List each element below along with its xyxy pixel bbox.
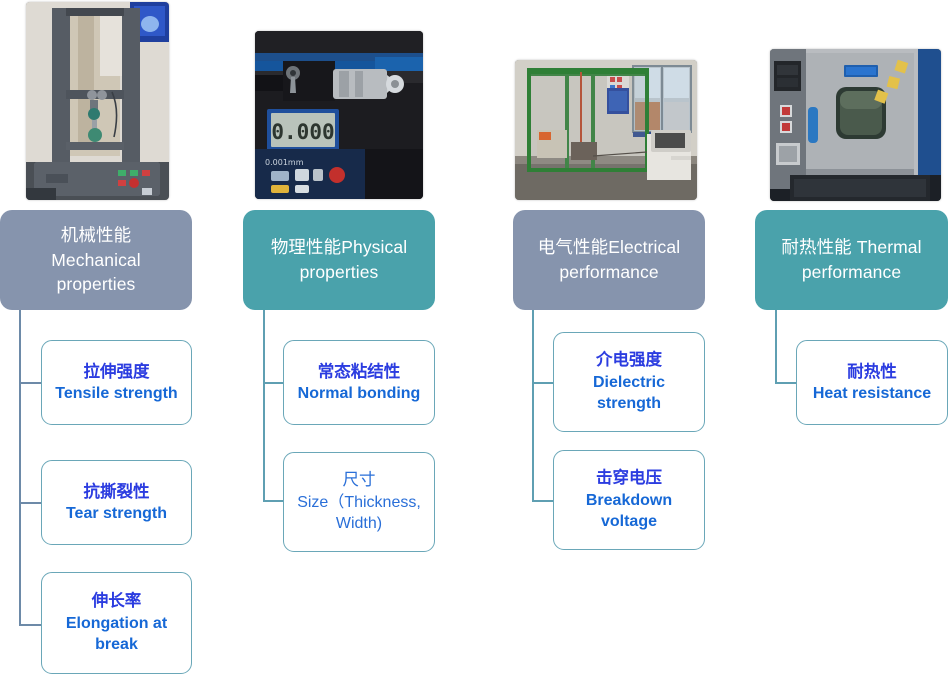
header-mechanical-cn: 机械性能 [61,225,131,245]
child-breakdown-cn: 击穿电压 [586,467,672,489]
child-normal-bonding-en: Normal bonding [298,383,421,405]
header-box-mechanical[interactable]: 机械性能 Mechanical properties [0,210,192,310]
child-tear-cn: 抗撕裂性 [66,481,167,503]
header-thermal-en-line1: performance [802,262,901,282]
child-breakdown-en-line2: voltage [586,511,672,533]
child-size-cn: 尺寸 [297,469,421,491]
connector-branch-physical-1 [263,382,283,384]
child-dielectric-en-line2: strength [593,393,665,415]
header-thermal-cn: 耐热性能 Thermal [781,237,921,257]
child-tensile-cn: 拉伸强度 [55,361,177,383]
high-voltage-test-cage-photo [515,60,697,200]
child-box-tear-strength[interactable]: 抗撕裂性 Tear strength [41,460,192,545]
connector-vertical-electrical [532,310,534,502]
header-box-electrical[interactable]: 电气性能Electrical performance [513,210,705,310]
child-box-elongation-at-break[interactable]: 伸长率 Elongation at break [41,572,192,674]
connector-branch-electrical-1 [532,382,553,384]
child-box-breakdown-voltage[interactable]: 击穿电压 Breakdown voltage [553,450,705,550]
child-tensile-en: Tensile strength [55,383,177,405]
connector-branch-mechanical-3 [19,624,41,626]
child-elongation-en-line1: Elongation at [66,613,167,635]
child-elongation-cn: 伸长率 [66,590,167,612]
child-box-dielectric-strength[interactable]: 介电强度 Dielectric strength [553,332,705,432]
header-electrical-en-line1: performance [559,262,658,282]
child-box-size[interactable]: 尺寸 Size（Thickness, Width) [283,452,435,552]
svg-text:0.001mm: 0.001mm [265,158,304,167]
connector-branch-thermal-1 [775,382,796,384]
child-normal-bonding-cn: 常态粘结性 [298,361,421,383]
child-heat-resistance-en: Heat resistance [813,383,931,405]
connector-branch-physical-2 [263,500,283,502]
diagram-canvas: 0.000 0.001mm [0,0,950,674]
digital-micrometer-photo: 0.000 0.001mm [255,31,423,199]
child-dielectric-en-line1: Dielectric [593,372,665,394]
header-box-thermal[interactable]: 耐热性能 Thermal performance [755,210,948,310]
connector-branch-mechanical-1 [19,382,41,384]
child-elongation-en-line2: break [66,634,167,656]
child-dielectric-cn: 介电强度 [593,349,665,371]
header-physical-cn: 物理性能Physical [271,237,407,257]
child-box-heat-resistance[interactable]: 耐热性 Heat resistance [796,340,948,425]
thermal-aging-oven-photo [770,49,941,201]
header-mechanical-en-line2: properties [57,274,136,294]
connector-vertical-mechanical [19,310,21,626]
header-electrical-cn: 电气性能Electrical [538,237,680,257]
header-physical-en-line1: properties [300,262,379,282]
connector-vertical-thermal [775,310,777,384]
child-box-tensile-strength[interactable]: 拉伸强度 Tensile strength [41,340,192,425]
connector-branch-mechanical-2 [19,502,41,504]
child-breakdown-en-line1: Breakdown [586,490,672,512]
connector-branch-electrical-2 [532,500,553,502]
child-size-en-line2: Width) [297,513,421,535]
universal-tensile-testing-machine-photo [26,2,169,200]
connector-vertical-physical [263,310,265,502]
svg-text:0.000: 0.000 [271,120,334,144]
child-tear-en: Tear strength [66,503,167,525]
child-size-en-line1: Size（Thickness, [297,492,421,514]
header-mechanical-en-line1: Mechanical [51,250,141,270]
child-heat-resistance-cn: 耐热性 [813,361,931,383]
child-box-normal-bonding[interactable]: 常态粘结性 Normal bonding [283,340,435,425]
header-box-physical[interactable]: 物理性能Physical properties [243,210,435,310]
